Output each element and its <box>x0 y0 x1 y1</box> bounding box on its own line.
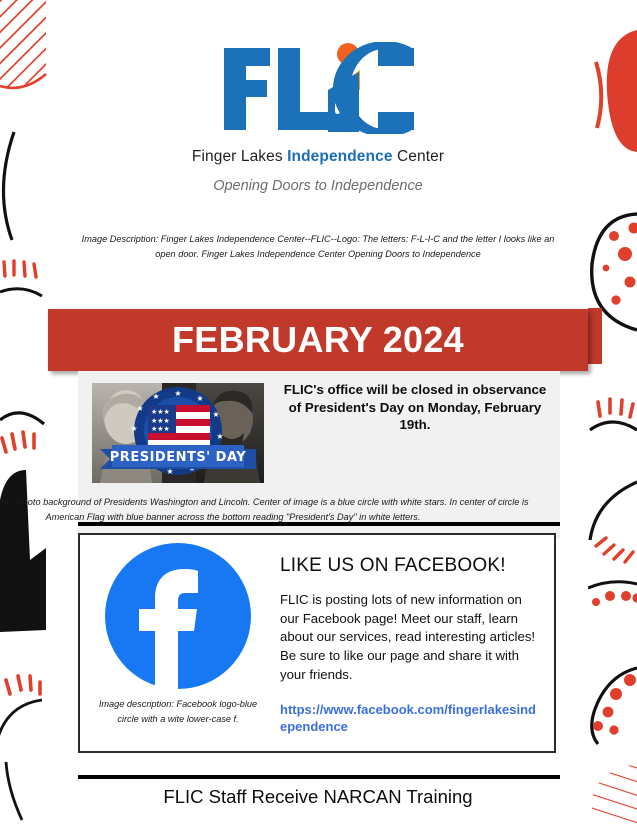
section-divider-top <box>78 522 560 526</box>
logo-tagline-secondary: Opening Doors to Independence <box>48 178 588 194</box>
section-divider-bottom <box>78 775 560 779</box>
facebook-section: Image description: Facebook logo-blue ci… <box>78 533 556 753</box>
flic-logo-block: Finger Lakes Independence Center Opening… <box>48 0 588 194</box>
presidents-day-text-column: FLIC's office will be closed in observan… <box>264 381 560 434</box>
presidents-day-section: ★★★ ★★★ ★★★ ★★★ <box>78 371 560 539</box>
logo-tagline-primary: Finger Lakes Independence Center <box>48 148 588 166</box>
month-banner-title: FEBRUARY 2024 <box>172 319 464 361</box>
flic-open-door-logo-icon <box>220 42 416 134</box>
svg-text:★: ★ <box>130 424 137 433</box>
presidents-day-image-wrap: ★★★ ★★★ ★★★ ★★★ <box>92 383 264 483</box>
tagline-prefix: Finger Lakes <box>192 148 287 165</box>
facebook-logo-icon <box>103 541 253 691</box>
tagline-emphasis: Independence <box>287 148 392 165</box>
svg-text:★: ★ <box>212 410 219 419</box>
narcan-section-heading: FLIC Staff Receive NARCAN Training <box>48 786 588 808</box>
facebook-body-text: FLIC is posting lots of new information … <box>280 591 542 685</box>
presidents-day-image-description: Image Description: Photo background of P… <box>0 495 560 525</box>
svg-text:★: ★ <box>196 394 203 403</box>
svg-text:★: ★ <box>174 389 181 398</box>
svg-text:★: ★ <box>216 432 223 441</box>
newsletter-page: Finger Lakes Independence Center Opening… <box>48 0 588 825</box>
svg-text:★★★: ★★★ <box>151 408 170 416</box>
tagline-suffix: Center <box>393 148 445 165</box>
svg-text:★: ★ <box>152 392 159 401</box>
month-banner: FEBRUARY 2024 <box>48 309 588 371</box>
facebook-page-link[interactable]: https://www.facebook.com/fingerlakesinde… <box>280 701 542 736</box>
facebook-heading: LIKE US ON FACEBOOK! <box>280 555 542 577</box>
svg-text:PRESIDENTS' DAY: PRESIDENTS' DAY <box>110 450 247 465</box>
svg-text:★: ★ <box>136 404 143 413</box>
facebook-logo-column: Image description: Facebook logo-blue ci… <box>80 535 276 751</box>
presidents-day-headline: FLIC's office will be closed in observan… <box>276 381 554 434</box>
logo-image-description: Image Description: Finger Lakes Independ… <box>80 232 556 262</box>
facebook-image-description: Image description: Facebook logo-blue ci… <box>92 697 264 726</box>
svg-text:★★★: ★★★ <box>151 425 170 433</box>
facebook-text-column: LIKE US ON FACEBOOK! FLIC is posting lot… <box>276 535 554 751</box>
svg-text:★★★: ★★★ <box>151 417 170 425</box>
presidents-day-graphic: ★★★ ★★★ ★★★ ★★★ <box>92 383 264 483</box>
